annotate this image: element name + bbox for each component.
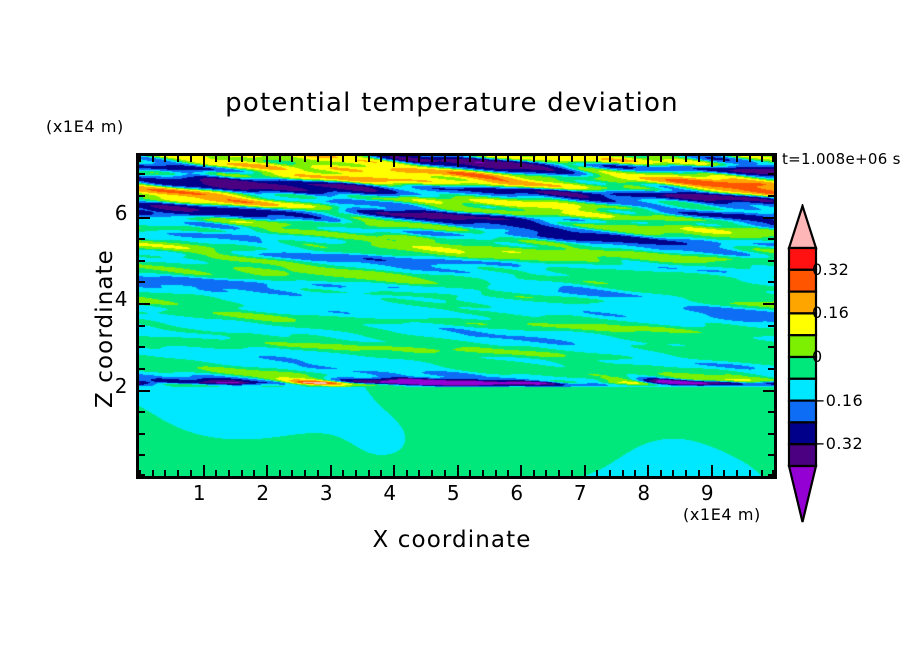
axis-tick: [139, 433, 145, 435]
x-tick-label: 2: [243, 481, 283, 505]
axis-tick: [584, 465, 586, 476]
axis-tick: [279, 470, 281, 476]
axis-tick: [768, 433, 774, 435]
axis-tick: [520, 465, 522, 476]
time-annotation: t=1.008e+06 s: [782, 150, 901, 168]
axis-tick: [342, 156, 344, 162]
axis-tick: [215, 470, 217, 476]
axis-tick: [457, 156, 459, 167]
axis-tick: [431, 470, 433, 476]
axis-tick: [418, 470, 420, 476]
axis-tick: [342, 470, 344, 476]
axis-tick: [469, 156, 471, 162]
axis-tick: [304, 470, 306, 476]
axis-tick: [772, 156, 774, 162]
axis-tick: [139, 454, 145, 456]
axis-tick: [672, 156, 674, 162]
axis-tick: [768, 238, 774, 240]
axis-tick: [761, 156, 763, 162]
axis-tick: [139, 411, 145, 413]
axis-tick: [558, 470, 560, 476]
axis-tick: [418, 156, 420, 162]
axis-tick: [368, 470, 370, 476]
x-tick-label: 7: [561, 481, 601, 505]
colorbar-tick-label: −0.32: [812, 434, 863, 453]
axis-tick: [736, 470, 738, 476]
axis-tick: [768, 325, 774, 327]
axis-tick: [330, 465, 332, 476]
y-tick-label: 4: [88, 287, 128, 311]
axis-tick: [228, 470, 230, 476]
axis-tick: [152, 470, 154, 476]
y-tick-label: 2: [88, 374, 128, 398]
page-title: potential temperature deviation: [0, 88, 904, 118]
axis-tick: [495, 156, 497, 162]
axis-tick: [279, 156, 281, 162]
axis-tick: [763, 217, 774, 219]
axis-tick: [749, 156, 751, 162]
x-tick-label: 8: [624, 481, 664, 505]
axis-tick: [190, 156, 192, 162]
axis-tick: [507, 470, 509, 476]
axis-tick: [698, 156, 700, 162]
axis-tick: [164, 156, 166, 162]
axis-tick: [393, 156, 395, 167]
x-tick-label: 6: [497, 481, 537, 505]
axis-tick: [768, 281, 774, 283]
axis-tick: [164, 470, 166, 476]
axis-tick: [482, 156, 484, 162]
axis-tick: [139, 325, 145, 327]
axis-tick: [444, 156, 446, 162]
axis-tick: [139, 346, 145, 348]
axis-tick: [139, 238, 145, 240]
axis-tick: [203, 465, 205, 476]
axis-tick: [406, 470, 408, 476]
axis-tick: [768, 411, 774, 413]
axis-tick: [768, 368, 774, 370]
axis-tick: [304, 156, 306, 162]
axis-tick: [203, 156, 205, 167]
axis-tick: [469, 470, 471, 476]
colorbar-tick-label: 0: [812, 347, 823, 366]
contour-field-canvas: [139, 156, 774, 476]
axis-tick: [139, 281, 145, 283]
axis-tick: [558, 156, 560, 162]
axis-tick: [763, 303, 774, 305]
axis-tick: [761, 470, 763, 476]
axis-tick: [609, 470, 611, 476]
x-tick-label: 4: [370, 481, 410, 505]
colorbar-tick-label: 0.16: [812, 303, 849, 322]
axis-tick: [768, 346, 774, 348]
contour-plot-area[interactable]: [136, 153, 777, 479]
axis-tick: [368, 156, 370, 162]
y-axis-units-label: (x1E4 m): [46, 117, 124, 136]
axis-tick: [647, 465, 649, 476]
axis-tick: [736, 156, 738, 162]
axis-tick: [139, 474, 145, 476]
axis-tick: [768, 474, 774, 476]
y-tick-label: 6: [88, 201, 128, 225]
axis-tick: [507, 156, 509, 162]
axis-tick: [317, 156, 319, 162]
axis-tick: [266, 465, 268, 476]
colorbar-tick-label: 0.32: [812, 260, 849, 279]
axis-tick: [768, 454, 774, 456]
axis-tick: [622, 156, 624, 162]
axis-tick: [355, 156, 357, 162]
axis-tick: [355, 470, 357, 476]
axis-tick: [228, 156, 230, 162]
axis-tick: [685, 156, 687, 162]
axis-tick: [634, 156, 636, 162]
axis-tick: [571, 470, 573, 476]
x-axis-title: X coordinate: [0, 527, 904, 553]
axis-tick: [457, 465, 459, 476]
axis-tick: [622, 470, 624, 476]
axis-tick: [647, 156, 649, 167]
axis-tick: [444, 470, 446, 476]
axis-tick: [431, 156, 433, 162]
axis-tick: [177, 470, 179, 476]
axis-tick: [241, 470, 243, 476]
axis-tick: [482, 470, 484, 476]
axis-tick: [723, 470, 725, 476]
axis-tick: [266, 156, 268, 167]
axis-tick: [685, 470, 687, 476]
colorbar-cap-top: [789, 206, 816, 248]
axis-tick: [698, 470, 700, 476]
axis-tick: [660, 470, 662, 476]
axis-tick: [139, 368, 145, 370]
axis-tick: [177, 156, 179, 162]
axis-tick: [139, 156, 141, 162]
axis-tick: [672, 470, 674, 476]
axis-tick: [749, 470, 751, 476]
axis-tick: [763, 390, 774, 392]
axis-tick: [711, 156, 713, 167]
colorbar-tick-label: −0.16: [812, 391, 863, 410]
axis-tick: [139, 217, 150, 219]
axis-tick: [533, 470, 535, 476]
axis-tick: [584, 156, 586, 167]
axis-tick: [291, 470, 293, 476]
x-axis-units-label: (x1E4 m): [683, 505, 761, 524]
axis-tick: [711, 465, 713, 476]
axis-tick: [215, 156, 217, 162]
axis-tick: [545, 156, 547, 162]
axis-tick: [660, 156, 662, 162]
axis-tick: [520, 156, 522, 167]
axis-tick: [241, 156, 243, 162]
axis-tick: [768, 195, 774, 197]
axis-tick: [596, 470, 598, 476]
axis-tick: [139, 390, 150, 392]
axis-tick: [723, 156, 725, 162]
axis-tick: [393, 465, 395, 476]
axis-tick: [139, 303, 150, 305]
axis-tick: [545, 470, 547, 476]
axis-tick: [596, 156, 598, 162]
axis-tick: [380, 156, 382, 162]
axis-tick: [768, 260, 774, 262]
axis-tick: [533, 156, 535, 162]
axis-tick: [139, 173, 145, 175]
axis-tick: [152, 156, 154, 162]
x-tick-label: 1: [180, 481, 220, 505]
x-tick-label: 3: [307, 481, 347, 505]
axis-tick: [634, 470, 636, 476]
colorbar-cap-bottom: [789, 466, 816, 522]
axis-tick: [139, 195, 145, 197]
axis-tick: [571, 156, 573, 162]
axis-tick: [768, 173, 774, 175]
axis-tick: [380, 470, 382, 476]
axis-tick: [190, 470, 192, 476]
axis-tick: [406, 156, 408, 162]
axis-tick: [609, 156, 611, 162]
x-tick-label: 5: [434, 481, 474, 505]
axis-tick: [317, 470, 319, 476]
axis-tick: [253, 470, 255, 476]
x-tick-label: 9: [688, 481, 728, 505]
axis-tick: [330, 156, 332, 167]
axis-tick: [253, 156, 255, 162]
axis-tick: [139, 260, 145, 262]
axis-tick: [291, 156, 293, 162]
axis-tick: [495, 470, 497, 476]
